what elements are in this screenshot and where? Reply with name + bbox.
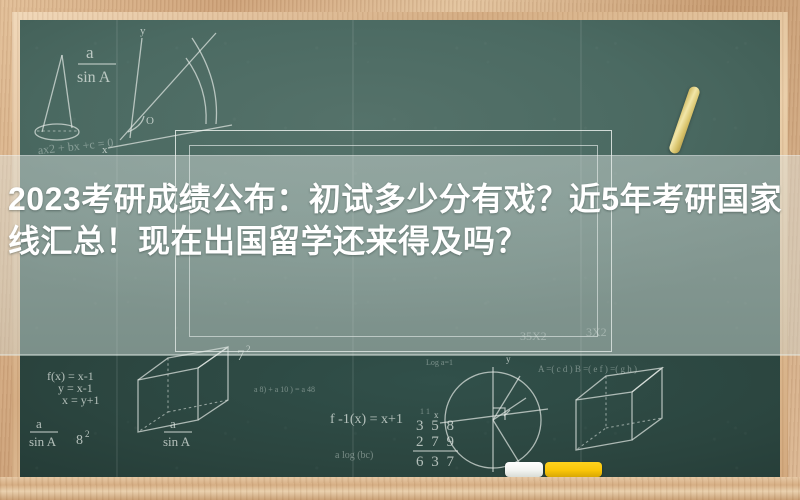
eight-squared: 8 2	[76, 429, 90, 448]
wooden-chalk-ledge	[0, 477, 800, 500]
eight-exponent: 2	[85, 429, 90, 439]
sine-rule-formula-top: a sin A	[77, 43, 116, 86]
sine-rule-formula-under-cube: a sin A	[163, 416, 192, 449]
inverse-function-text: f -1(x) = x+1	[330, 412, 403, 427]
cone-drawing	[35, 55, 79, 140]
overlay-band-bottom-edge	[0, 354, 800, 356]
sine-b-den: sin A	[163, 434, 191, 449]
sine-rule-denominator: sin A	[77, 69, 111, 86]
angle-o-label: O	[146, 115, 154, 127]
function-line-3: x = y+1	[62, 393, 100, 407]
white-chalk-stick	[505, 462, 543, 477]
sine-b-num: a	[170, 416, 176, 431]
circle-x-label: x	[434, 410, 439, 420]
carry-marks: 1 1	[420, 407, 430, 416]
cube-drawing-left	[138, 347, 228, 432]
sine-rule-formula-bottom-left: a sin A	[29, 416, 58, 449]
sine-a-num: a	[36, 416, 42, 431]
log-bc-text: a log (bc)	[335, 450, 373, 461]
addend-1: 3 5 8	[416, 418, 456, 434]
matrix-note-text: A =( c d ) B =( e f ) =( g h )	[538, 364, 637, 374]
faded-expression: a 8) + a 10 ) = a 48	[254, 385, 315, 394]
page-title: 2023考研成绩公布：初试多少分有戏？近5年考研国家线汇总！现在出国留学还来得及…	[8, 178, 798, 262]
angle-y-label: y	[140, 25, 146, 37]
sine-a-den: sin A	[29, 434, 57, 449]
yellow-chalk-stick-ledge	[545, 462, 602, 477]
overlay-band-top-edge	[0, 155, 800, 156]
function-equations-block: f(x) = x-1 y = x-1 x = y+1	[47, 369, 100, 407]
cube-drawing-right	[576, 368, 662, 450]
poster-canvas: a sin A ax2 + bx +c = 0 y x	[0, 0, 800, 500]
eight-base: 8	[76, 433, 83, 448]
sum-result: 6 3 7	[416, 454, 456, 470]
sine-rule-numerator: a	[86, 43, 94, 62]
log-small-text: Log a=1	[426, 358, 453, 367]
